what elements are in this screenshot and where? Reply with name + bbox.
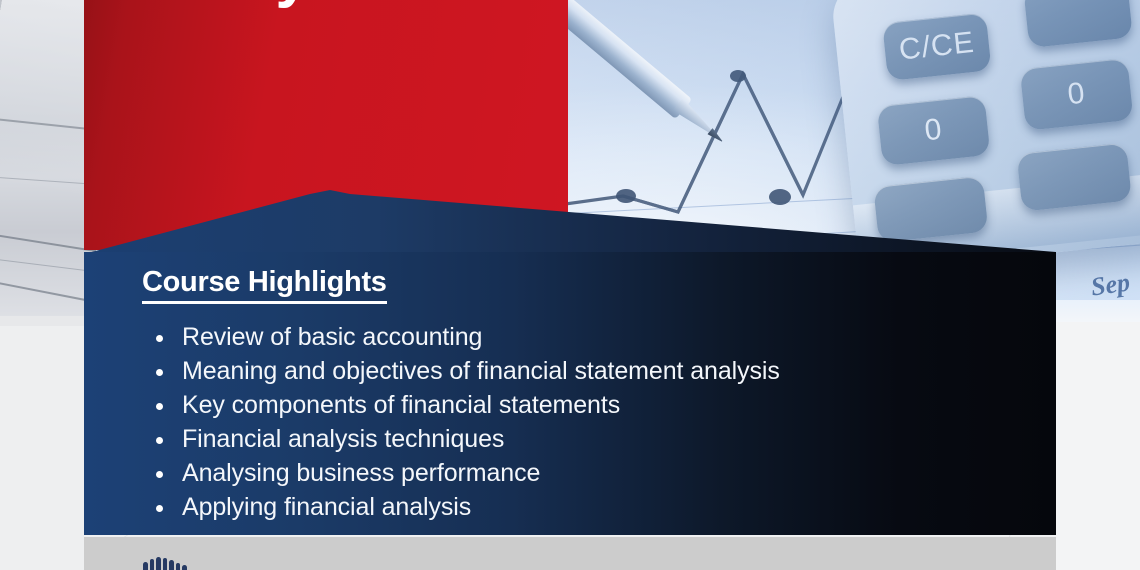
course-highlights-panel: Course Highlights Review of basic accoun…	[84, 252, 1056, 535]
calculator-key-blank-right	[1017, 142, 1132, 211]
list-item: Meaning and objectives of financial stat…	[148, 354, 1056, 388]
right-gutter	[1056, 322, 1140, 570]
list-item: Key components of financial statements	[148, 388, 1056, 422]
list-item-label: Financial analysis techniques	[182, 425, 504, 453]
list-item-label: Key components of financial statements	[182, 391, 620, 419]
list-item: Analysing business performance	[148, 456, 1056, 490]
left-gutter	[0, 322, 84, 570]
paper-month-label: Sep	[1089, 267, 1132, 302]
calculator-key-zero: 0	[877, 95, 991, 166]
bullet-icon	[156, 505, 163, 512]
bullet-icon	[156, 403, 163, 410]
calculator-key-clear: C/CE	[882, 12, 991, 81]
list-item: Financial analysis techniques	[148, 422, 1056, 456]
page-title: Statement Analysis	[145, 0, 575, 6]
list-item: Applying financial analysis	[148, 490, 1056, 524]
course-highlights-heading: Course Highlights	[142, 266, 387, 304]
paper-edge-left	[0, 316, 96, 326]
footer-band	[84, 537, 1056, 570]
poster-canvas: C/CE 0 0 Sep Statement Analysis Course H…	[0, 0, 1140, 570]
bullet-icon	[156, 471, 163, 478]
calculator-key-zero-top	[1023, 0, 1133, 48]
bullet-icon	[156, 437, 163, 444]
list-item-label: Analysing business performance	[182, 459, 540, 487]
organisation-logo-icon	[143, 557, 187, 570]
list-item: Review of basic accounting	[148, 320, 1056, 354]
list-item-label: Review of basic accounting	[182, 323, 482, 351]
list-item-label: Applying financial analysis	[182, 493, 471, 521]
bullet-icon	[156, 335, 163, 342]
paper-texture-left	[0, 0, 96, 322]
calculator-body: C/CE 0 0	[830, 0, 1140, 273]
calculator-key-blank-left	[873, 176, 988, 243]
calculator-key-zero-right: 0	[1020, 58, 1134, 131]
page-title-line-2: Analysis	[145, 0, 575, 6]
list-item-label: Meaning and objectives of financial stat…	[182, 357, 780, 385]
course-highlights-list: Review of basic accounting Meaning and o…	[148, 320, 1056, 524]
bullet-icon	[156, 369, 163, 376]
